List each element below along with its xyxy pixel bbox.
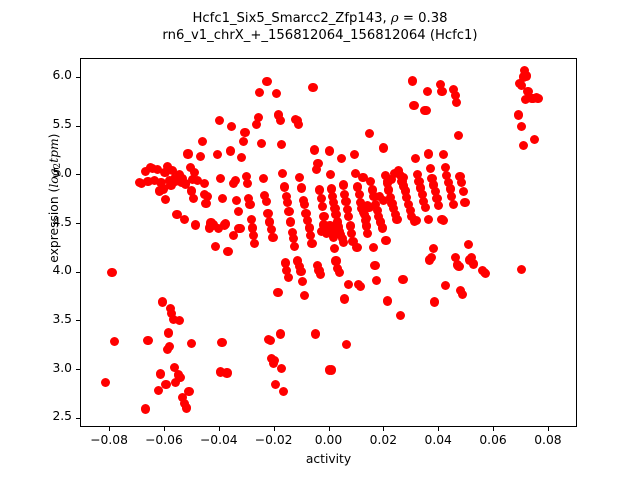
scatter-point	[439, 150, 448, 159]
scatter-point	[441, 281, 450, 290]
scatter-point	[284, 207, 293, 216]
scatter-point	[517, 265, 526, 274]
scatter-point	[216, 174, 225, 183]
scatter-point	[379, 196, 388, 205]
scatter-point	[454, 131, 463, 140]
scatter-point	[363, 201, 372, 210]
chart-title-line-1: Hcfc1_Six5_Smarcc2_Zfp143, ρ = 0.38	[0, 10, 640, 27]
scatter-point	[294, 120, 303, 129]
scatter-point	[383, 296, 392, 305]
scatter-point	[262, 197, 271, 206]
y-axis-tick	[76, 126, 80, 127]
scatter-point	[141, 404, 150, 413]
scatter-point	[277, 140, 286, 149]
scatter-point	[460, 198, 469, 207]
scatter-point	[277, 364, 286, 373]
scatter-point	[530, 135, 539, 144]
scatter-point	[426, 164, 435, 173]
scatter-point	[198, 137, 207, 146]
scatter-point	[229, 231, 238, 240]
x-axis-tick	[329, 427, 330, 431]
scatter-point	[439, 216, 448, 225]
scatter-point	[226, 146, 235, 155]
scatter-point	[481, 269, 490, 278]
scatter-point	[176, 373, 185, 382]
scatter-point	[421, 106, 430, 115]
x-axis-tick	[438, 427, 439, 431]
scatter-point	[457, 178, 466, 187]
scatter-point	[143, 336, 152, 345]
scatter-point	[372, 276, 381, 285]
scatter-point	[214, 224, 223, 233]
scatter-point	[280, 182, 289, 191]
scatter-point	[268, 233, 277, 242]
scatter-point	[412, 216, 421, 225]
scatter-point	[196, 152, 205, 161]
scatter-point	[378, 223, 387, 232]
scatter-point	[213, 150, 222, 159]
scatter-point	[326, 170, 335, 179]
scatter-point	[107, 268, 116, 277]
scatter-point	[165, 342, 174, 351]
x-axis-tick	[548, 427, 549, 431]
scatter-point	[311, 329, 320, 338]
scatter-point	[313, 159, 322, 168]
scatter-point	[222, 368, 231, 377]
scatter-point	[339, 238, 348, 247]
scatter-point	[184, 387, 193, 396]
scatter-point	[161, 195, 170, 204]
scatter-point	[284, 273, 293, 282]
scatter-point	[532, 93, 541, 102]
x-axis-tick	[493, 427, 494, 431]
y-axis-label-prefix: expression (	[47, 188, 61, 263]
scatter-point	[276, 329, 285, 338]
scatter-point	[379, 143, 388, 152]
scatter-point	[459, 187, 468, 196]
scatter-point	[276, 116, 285, 125]
scatter-point	[398, 275, 407, 284]
scatter-point	[279, 387, 288, 396]
scatter-point	[424, 149, 433, 158]
scatter-point	[156, 369, 165, 378]
scatter-point	[427, 253, 436, 262]
scatter-point	[517, 122, 526, 131]
scatter-point	[449, 200, 458, 209]
scatter-point	[452, 98, 461, 107]
scatter-point	[429, 244, 438, 253]
scatter-point	[217, 338, 226, 347]
scatter-point	[161, 380, 170, 389]
scatter-point	[245, 200, 254, 209]
scatter-point	[240, 128, 249, 137]
scatter-point	[180, 215, 189, 224]
y-axis-tick	[76, 320, 80, 321]
scatter-point	[300, 291, 309, 300]
scatter-point	[318, 202, 327, 211]
scatter-point	[411, 154, 420, 163]
scatter-point	[239, 137, 248, 146]
scatter-point	[424, 215, 433, 224]
y-axis-tick	[76, 272, 80, 273]
y-axis-tick-label: 3.0	[24, 361, 72, 375]
y-axis-tick	[76, 369, 80, 370]
scatter-point	[408, 76, 417, 85]
scatter-point	[362, 214, 371, 223]
rho-value: = 0.38	[399, 11, 448, 26]
scatter-point	[398, 173, 407, 182]
scatter-point	[310, 145, 319, 154]
scatter-point	[297, 183, 306, 192]
scatter-point	[519, 141, 528, 150]
scatter-point	[255, 88, 264, 97]
scatter-point	[206, 220, 215, 229]
scatter-point	[257, 139, 266, 148]
scatter-point	[434, 201, 443, 210]
scatter-point	[514, 110, 523, 119]
scatter-point	[223, 247, 232, 256]
chart-title-line-1-prefix: Hcfc1_Six5_Smarcc2_Zfp143,	[193, 11, 391, 26]
y-axis-tick	[76, 223, 80, 224]
y-axis-label-tpm: tpm	[47, 138, 61, 162]
scatter-point	[164, 328, 173, 337]
scatter-point	[423, 87, 432, 96]
scatter-point	[458, 290, 467, 299]
y-axis-tick	[76, 418, 80, 419]
scatter-point	[286, 217, 295, 226]
scatter-point	[232, 196, 241, 205]
scatter-point	[191, 220, 200, 229]
scatter-point	[469, 259, 478, 268]
chart-title: Hcfc1_Six5_Smarcc2_Zfp143, ρ = 0.38 rn6_…	[0, 10, 640, 44]
scatter-point	[342, 340, 351, 349]
scatter-point	[266, 336, 275, 345]
scatter-point	[350, 150, 359, 159]
scatter-point	[352, 243, 361, 252]
scatter-point	[330, 244, 339, 253]
scatter-point	[290, 242, 299, 251]
y-axis-label: expression (log2tpm)	[47, 48, 63, 348]
scatter-point	[316, 270, 325, 279]
y-axis-tick	[76, 174, 80, 175]
x-axis-label: activity	[80, 452, 577, 466]
scatter-point	[421, 203, 430, 212]
scatter-point	[437, 87, 446, 96]
scatter-point	[250, 239, 259, 248]
scatter-point	[369, 243, 378, 252]
scatter-point	[339, 180, 348, 189]
y-axis-label-subscript: 2	[53, 163, 63, 169]
scatter-point	[396, 311, 405, 320]
scatter-point	[215, 116, 224, 125]
x-axis-tick-label: 0.08	[513, 433, 583, 447]
x-axis-tick	[219, 427, 220, 431]
scatter-point	[278, 169, 287, 178]
y-axis-label-suffix: )	[47, 134, 61, 139]
scatter-point	[175, 316, 184, 325]
rho-symbol: ρ	[391, 11, 399, 26]
scatter-point	[335, 268, 344, 277]
scatter-point	[237, 153, 246, 162]
scatter-point	[296, 267, 305, 276]
scatter-point	[218, 194, 227, 203]
scatter-point	[454, 262, 463, 271]
scatter-point	[211, 242, 220, 251]
x-axis-tick	[164, 427, 165, 431]
scatter-point	[272, 89, 281, 98]
scatter-point	[344, 280, 353, 289]
x-axis-tick	[383, 427, 384, 431]
scatter-point	[307, 239, 316, 248]
x-axis-tick	[274, 427, 275, 431]
scatter-point	[158, 297, 167, 306]
scatter-point	[365, 129, 374, 138]
scatter-point	[327, 365, 336, 374]
scatter-point	[337, 154, 346, 163]
scatter-point	[370, 261, 379, 270]
scatter-point	[358, 173, 367, 182]
scatter-point	[298, 277, 307, 286]
scatter-point	[182, 403, 191, 412]
scatter-point	[363, 229, 372, 238]
scatter-point	[259, 174, 268, 183]
scatter-plot-figure: Hcfc1_Six5_Smarcc2_Zfp143, ρ = 0.38 rn6_…	[0, 0, 640, 480]
plot-area	[80, 58, 577, 427]
scatter-point	[271, 380, 280, 389]
scatter-point	[340, 294, 349, 303]
scatter-point	[227, 122, 236, 131]
scatter-point	[522, 71, 531, 80]
x-axis-tick	[109, 427, 110, 431]
scatter-point	[325, 146, 334, 155]
scatter-point	[183, 149, 192, 158]
scatter-point	[430, 297, 439, 306]
y-axis-label-log: log	[47, 168, 61, 187]
scatter-point	[308, 83, 317, 92]
scatter-point	[110, 337, 119, 346]
scatter-point	[187, 339, 196, 348]
y-axis-tick	[76, 77, 80, 78]
scatter-point	[464, 240, 473, 249]
scatter-point	[248, 223, 257, 232]
scatter-point	[356, 282, 365, 291]
scatter-points-layer	[81, 59, 576, 426]
scatter-point	[181, 180, 190, 189]
scatter-point	[381, 236, 390, 245]
scatter-point	[234, 207, 243, 216]
y-axis-tick-label: 2.5	[24, 409, 72, 423]
scatter-point	[262, 77, 271, 86]
chart-title-line-2: rn6_v1_chrX_+_156812064_156812064 (Hcfc1…	[0, 27, 640, 44]
scatter-point	[254, 113, 263, 122]
scatter-point	[231, 176, 240, 185]
scatter-point	[101, 378, 110, 387]
scatter-point	[409, 101, 418, 110]
scatter-point	[273, 288, 282, 297]
scatter-point	[392, 215, 401, 224]
scatter-point	[295, 173, 304, 182]
scatter-point	[283, 198, 292, 207]
scatter-point	[243, 179, 252, 188]
scatter-point	[344, 212, 353, 221]
scatter-point	[300, 200, 309, 209]
